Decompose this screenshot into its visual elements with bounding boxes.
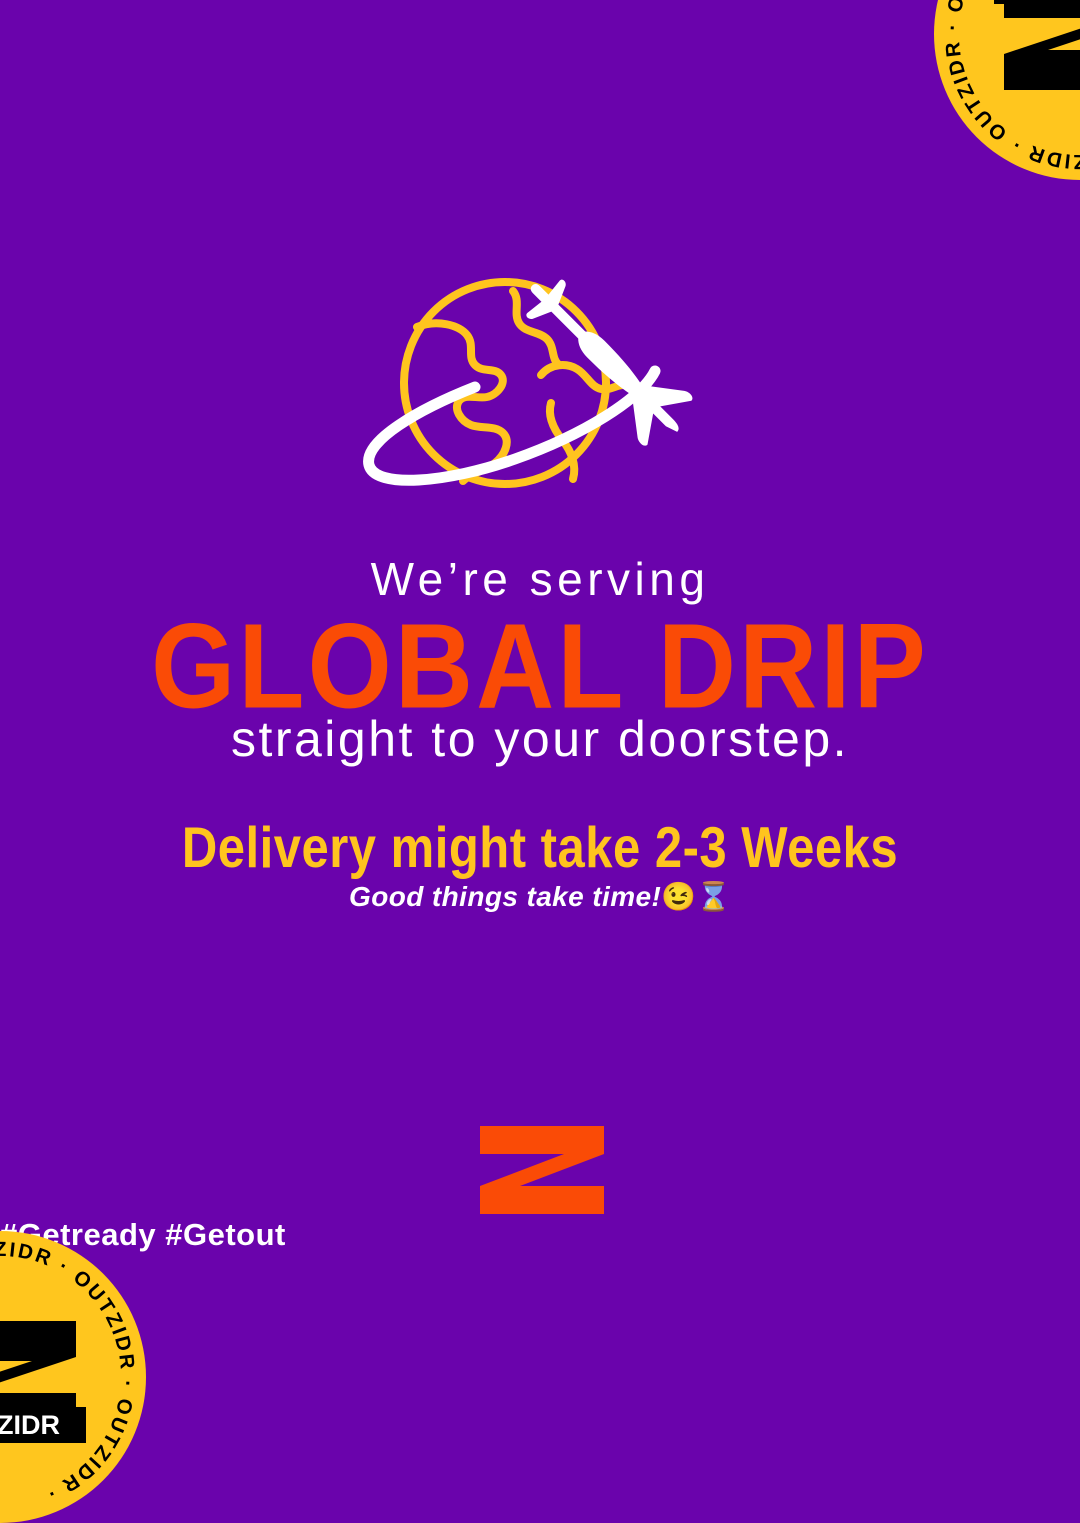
seal-core-bottom-left: OUTZIDR [0,1317,84,1437]
seal-wordmark: OUTZIDR [0,1412,60,1439]
outzidr-seal-bottom-left: OUTZIDR · OUTZIDR · OUTZIDR · OUTZIDR · … [0,1231,146,1523]
z-logo-icon [996,0,1080,94]
outzidr-z-logo [478,1126,606,1214]
airplane-icon [507,275,702,456]
seal-wordmark-bar: OUTZIDR [994,0,1080,4]
page-title: GLOBAL DRIP [0,606,1080,726]
reassurance-emoji: 😉⌛ [661,881,731,912]
seal-core-top-right: OUTZIDR [996,0,1080,94]
seal-wordmark-bar: OUTZIDR [0,1407,86,1443]
subhead-text: straight to your doorstep. [0,714,1080,764]
globe-airplane-icon [355,275,715,510]
poster-canvas: OUTZIDR · OUTZIDR · OUTZIDR · OUTZIDR · … [0,0,1080,1440]
outzidr-seal-top-right: OUTZIDR · OUTZIDR · OUTZIDR · OUTZIDR · … [934,0,1080,180]
reassurance-text: Good things take time! [349,881,661,912]
reassurance-line: Good things take time!😉⌛ [0,879,1080,915]
hashtags-text: #Getready #Getout [0,1219,1080,1250]
eyebrow-text: We’re serving [0,556,1080,602]
delivery-note-text: Delivery might take 2-3 Weeks [0,820,1080,878]
